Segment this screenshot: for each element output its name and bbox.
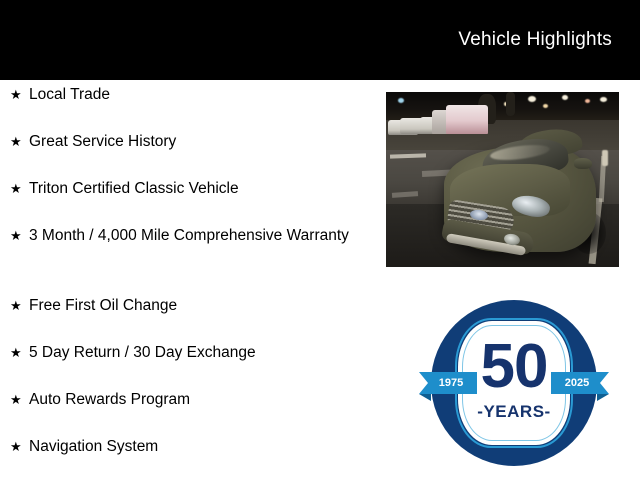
curb-post [602, 150, 608, 166]
star-icon: ★ [10, 225, 29, 247]
star-icon: ★ [10, 342, 29, 364]
side-mirror [574, 158, 592, 169]
badge-number: 50 [431, 336, 597, 398]
tree-silhouette [506, 92, 515, 116]
list-item: ★ Great Service History [0, 131, 372, 178]
highlight-label: Triton Certified Classic Vehicle [29, 178, 239, 200]
star-icon: ★ [10, 389, 29, 411]
list-item: ★ 3 Month / 4,000 Mile Comprehensive War… [0, 225, 372, 295]
ribbon-tail-left [419, 394, 431, 401]
list-item: ★ 5 Day Return / 30 Day Exchange [0, 342, 372, 389]
vehicle-photo-canvas [386, 92, 619, 267]
highlight-label: Local Trade [29, 84, 110, 106]
distant-light [562, 95, 568, 100]
list-item: ★ Auto Rewards Program [0, 389, 372, 436]
vehicle-photo [386, 92, 619, 267]
fifty-years-anniversary-badge: 1975 2025 50 -YEARS- [431, 300, 597, 466]
background-van [446, 105, 488, 134]
highlight-label: 5 Day Return / 30 Day Exchange [29, 342, 256, 364]
star-icon: ★ [10, 436, 29, 458]
highlight-label: Navigation System [29, 436, 158, 458]
list-item: ★ Local Trade [0, 84, 372, 131]
list-item: ★ Free First Oil Change [0, 295, 372, 342]
distant-light [600, 97, 607, 102]
vehicle-highlights-list: ★ Local Trade ★ Great Service History ★ … [0, 84, 372, 483]
badge-years-label: -YEARS- [431, 402, 597, 422]
star-icon: ★ [10, 84, 29, 106]
star-icon: ★ [10, 178, 29, 200]
page-title: Vehicle Highlights [458, 29, 612, 51]
distant-light [585, 99, 590, 103]
star-icon: ★ [10, 131, 29, 153]
highlight-label: Great Service History [29, 131, 176, 153]
ribbon-tail-right [597, 394, 609, 401]
star-icon: ★ [10, 295, 29, 317]
header-bar: Vehicle Highlights [0, 0, 640, 80]
distant-light [398, 98, 404, 103]
list-item: ★ Triton Certified Classic Vehicle [0, 178, 372, 225]
highlight-label: Free First Oil Change [29, 295, 177, 317]
list-item: ★ Navigation System [0, 436, 372, 483]
highlight-label: 3 Month / 4,000 Mile Comprehensive Warra… [29, 225, 349, 247]
distant-light [543, 104, 548, 108]
highlight-label: Auto Rewards Program [29, 389, 190, 411]
distant-light [528, 96, 536, 102]
